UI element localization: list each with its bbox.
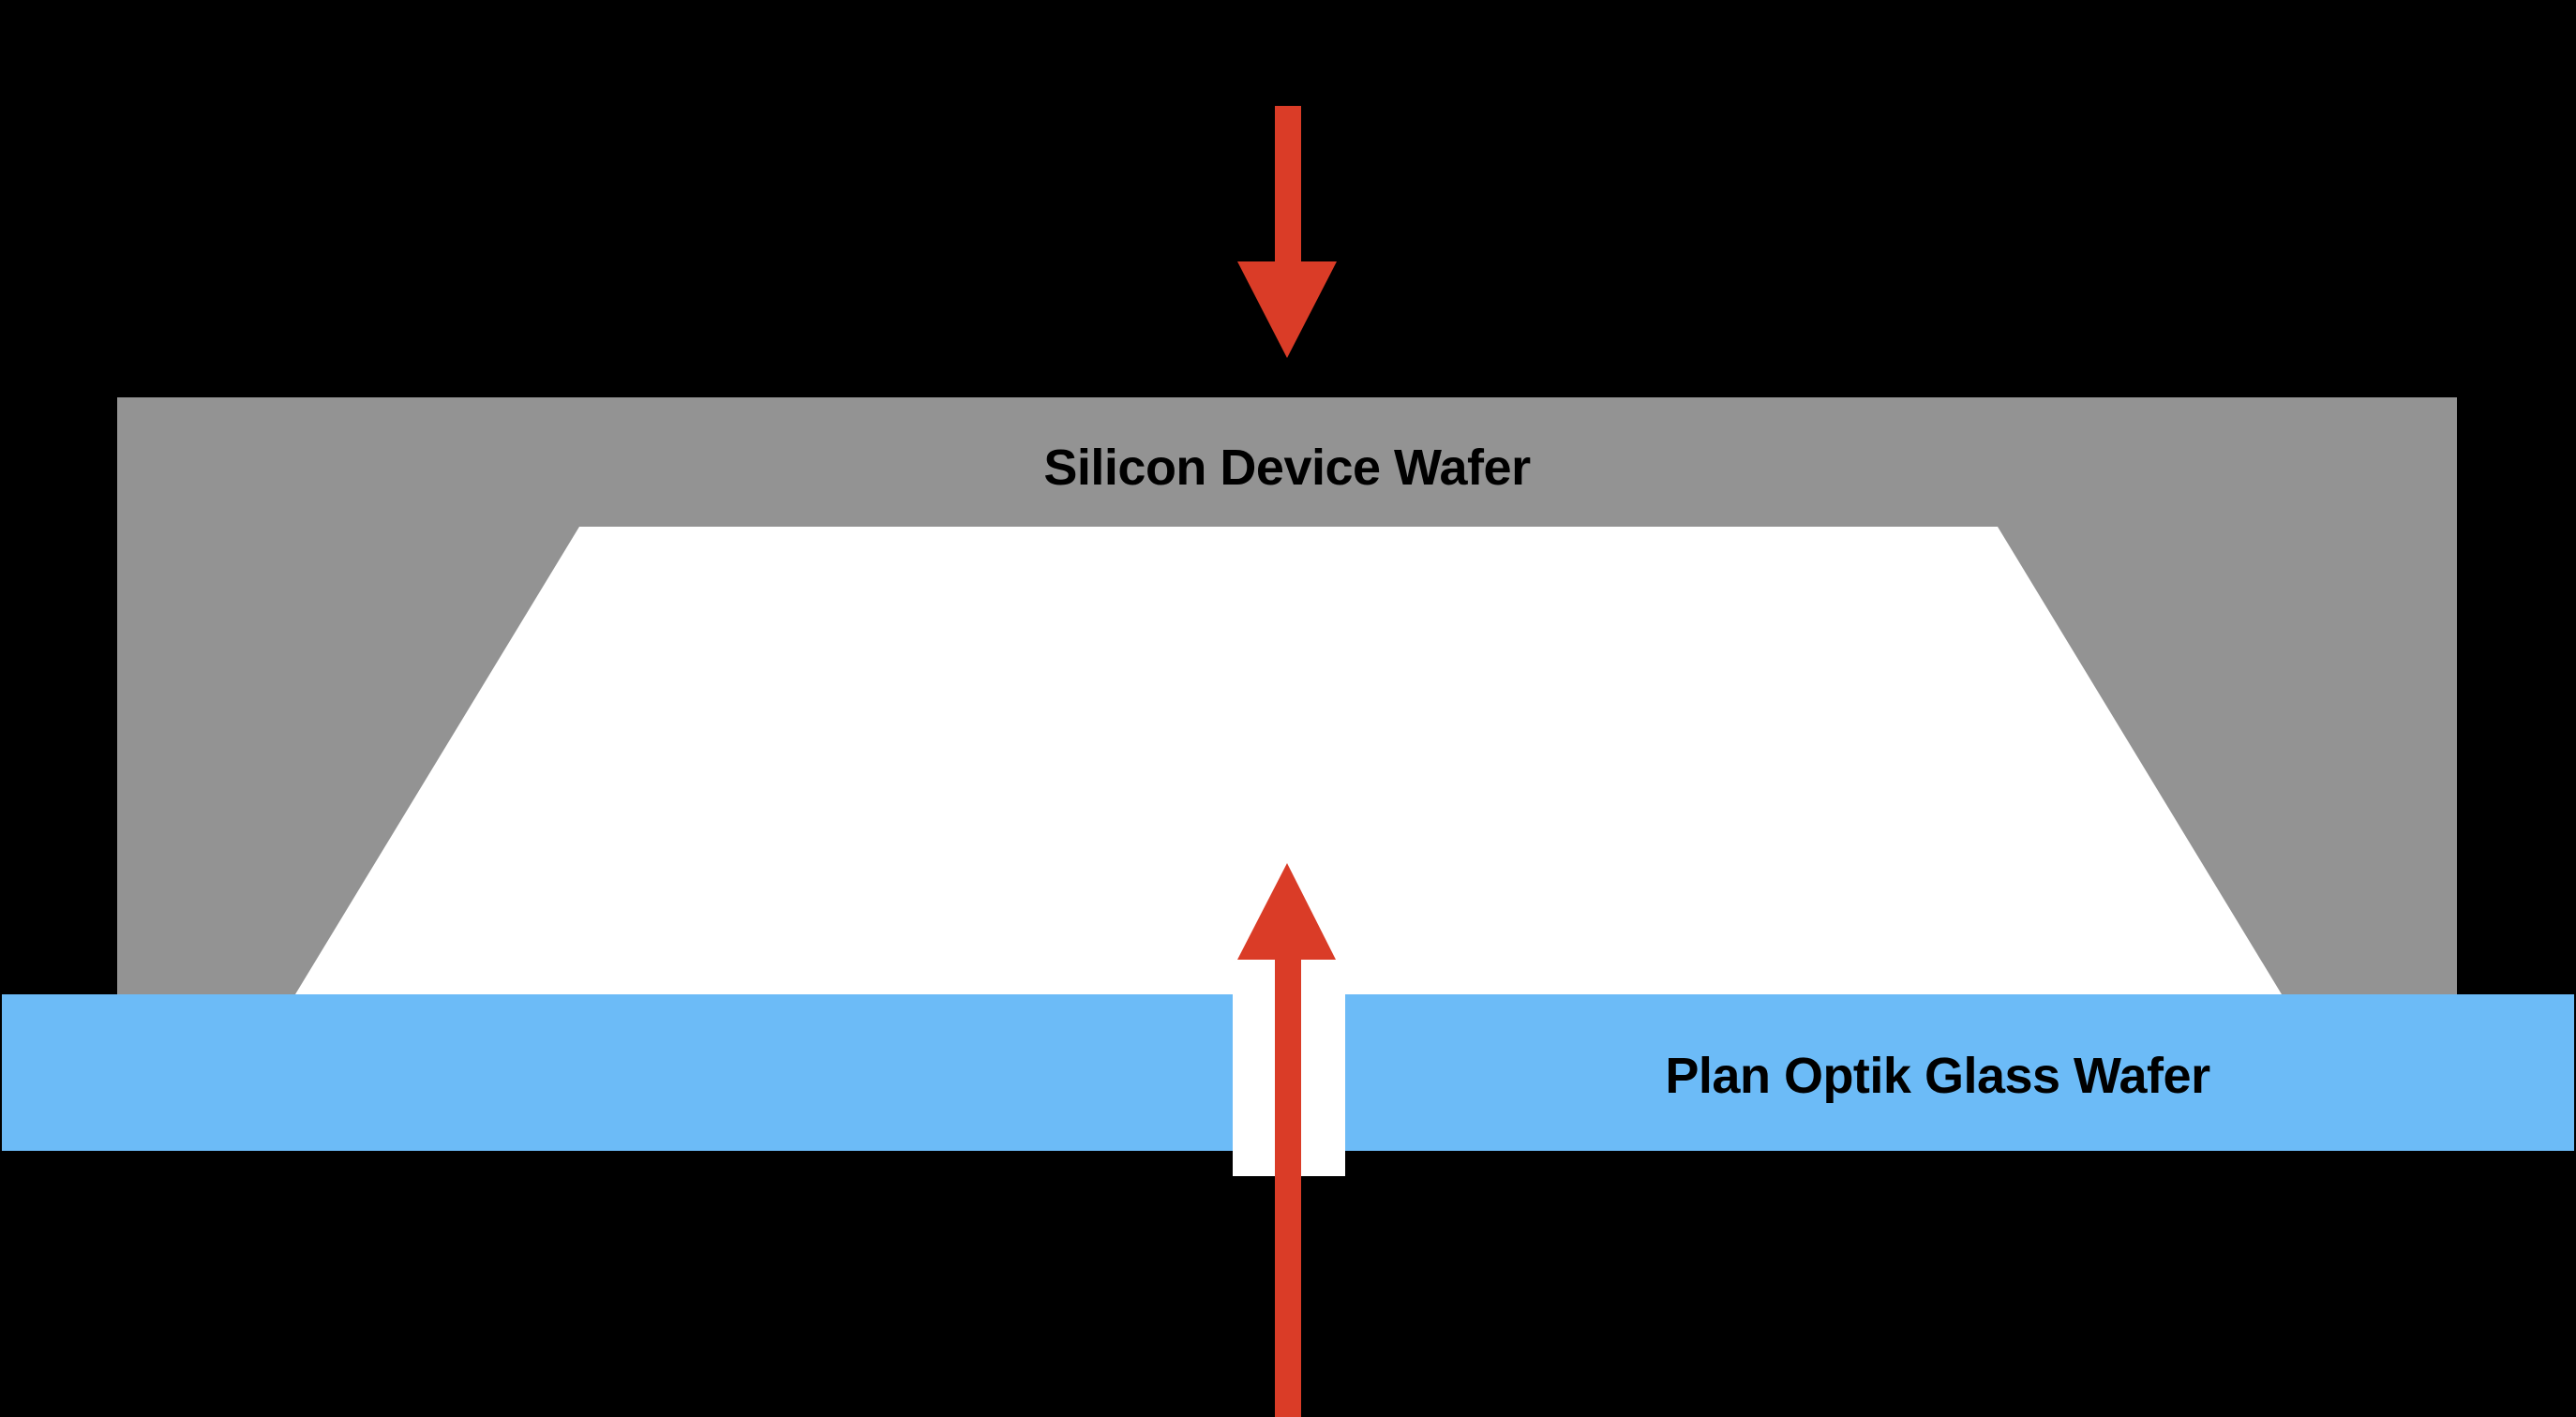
diagram-canvas: Silicon Device Wafer Plan Optik Glass Wa…	[0, 0, 2576, 1417]
up-arrow-shaft	[1275, 960, 1301, 1417]
silicon-device-wafer-label: Silicon Device Wafer	[1043, 440, 1531, 496]
wafer-bonding-diagram: Silicon Device Wafer Plan Optik Glass Wa…	[0, 0, 2576, 1417]
plan-optik-glass-wafer-label: Plan Optik Glass Wafer	[1665, 1048, 2210, 1104]
down-arrow-shaft	[1275, 106, 1301, 261]
